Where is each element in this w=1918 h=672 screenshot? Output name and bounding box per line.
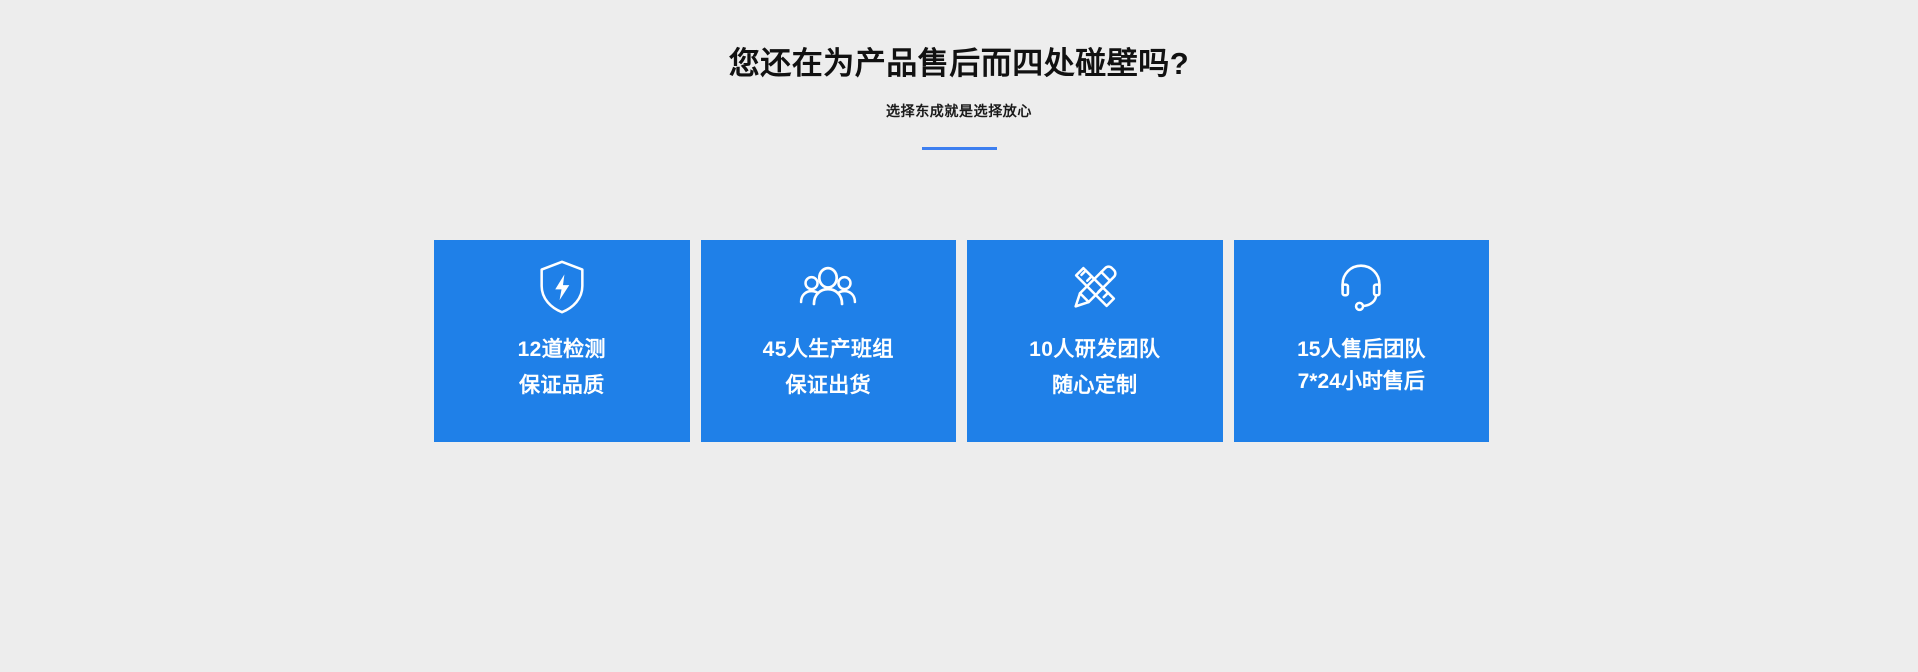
feature-card-line-2: 保证出货	[763, 368, 894, 404]
section-subtitle: 选择东成就是选择放心	[0, 85, 1918, 121]
feature-card-line-2: 保证品质	[518, 368, 606, 404]
feature-card-line-2: 7*24小时售后	[1297, 366, 1425, 398]
section-header: 您还在为产品售后而四处碰壁吗? 选择东成就是选择放心	[0, 0, 1918, 151]
feature-card-rnd[interactable]: 10人研发团队 随心定制	[967, 240, 1223, 442]
feature-card-text: 45人生产班组 保证出货	[763, 332, 894, 404]
feature-card-list: 12道检测 保证品质 45人生产班组	[434, 240, 1489, 442]
feature-card-text: 10人研发团队 随心定制	[1029, 332, 1160, 404]
feature-card-text: 12道检测 保证品质	[518, 332, 606, 404]
feature-card-quality[interactable]: 12道检测 保证品质	[434, 240, 690, 442]
shield-bolt-icon	[531, 256, 593, 318]
feature-card-production[interactable]: 45人生产班组 保证出货	[701, 240, 957, 442]
page-title: 您还在为产品售后而四处碰壁吗?	[0, 0, 1918, 85]
people-group-icon	[797, 256, 859, 318]
section-divider	[922, 147, 997, 150]
feature-card-line-1: 12道检测	[518, 332, 606, 368]
promo-feature-section: 您还在为产品售后而四处碰壁吗? 选择东成就是选择放心 12道检测 保证品质	[0, 0, 1918, 672]
feature-card-line-1: 10人研发团队	[1029, 332, 1160, 368]
headset-icon	[1330, 256, 1392, 318]
feature-card-line-1: 45人生产班组	[763, 332, 894, 368]
pencil-ruler-icon	[1064, 256, 1126, 318]
divider-container	[0, 147, 1918, 151]
feature-card-text: 15人售后团队 7*24小时售后	[1297, 334, 1425, 398]
feature-card-aftersales[interactable]: 15人售后团队 7*24小时售后	[1234, 240, 1490, 442]
feature-card-line-2: 随心定制	[1029, 368, 1160, 404]
feature-card-line-1: 15人售后团队	[1297, 334, 1425, 366]
